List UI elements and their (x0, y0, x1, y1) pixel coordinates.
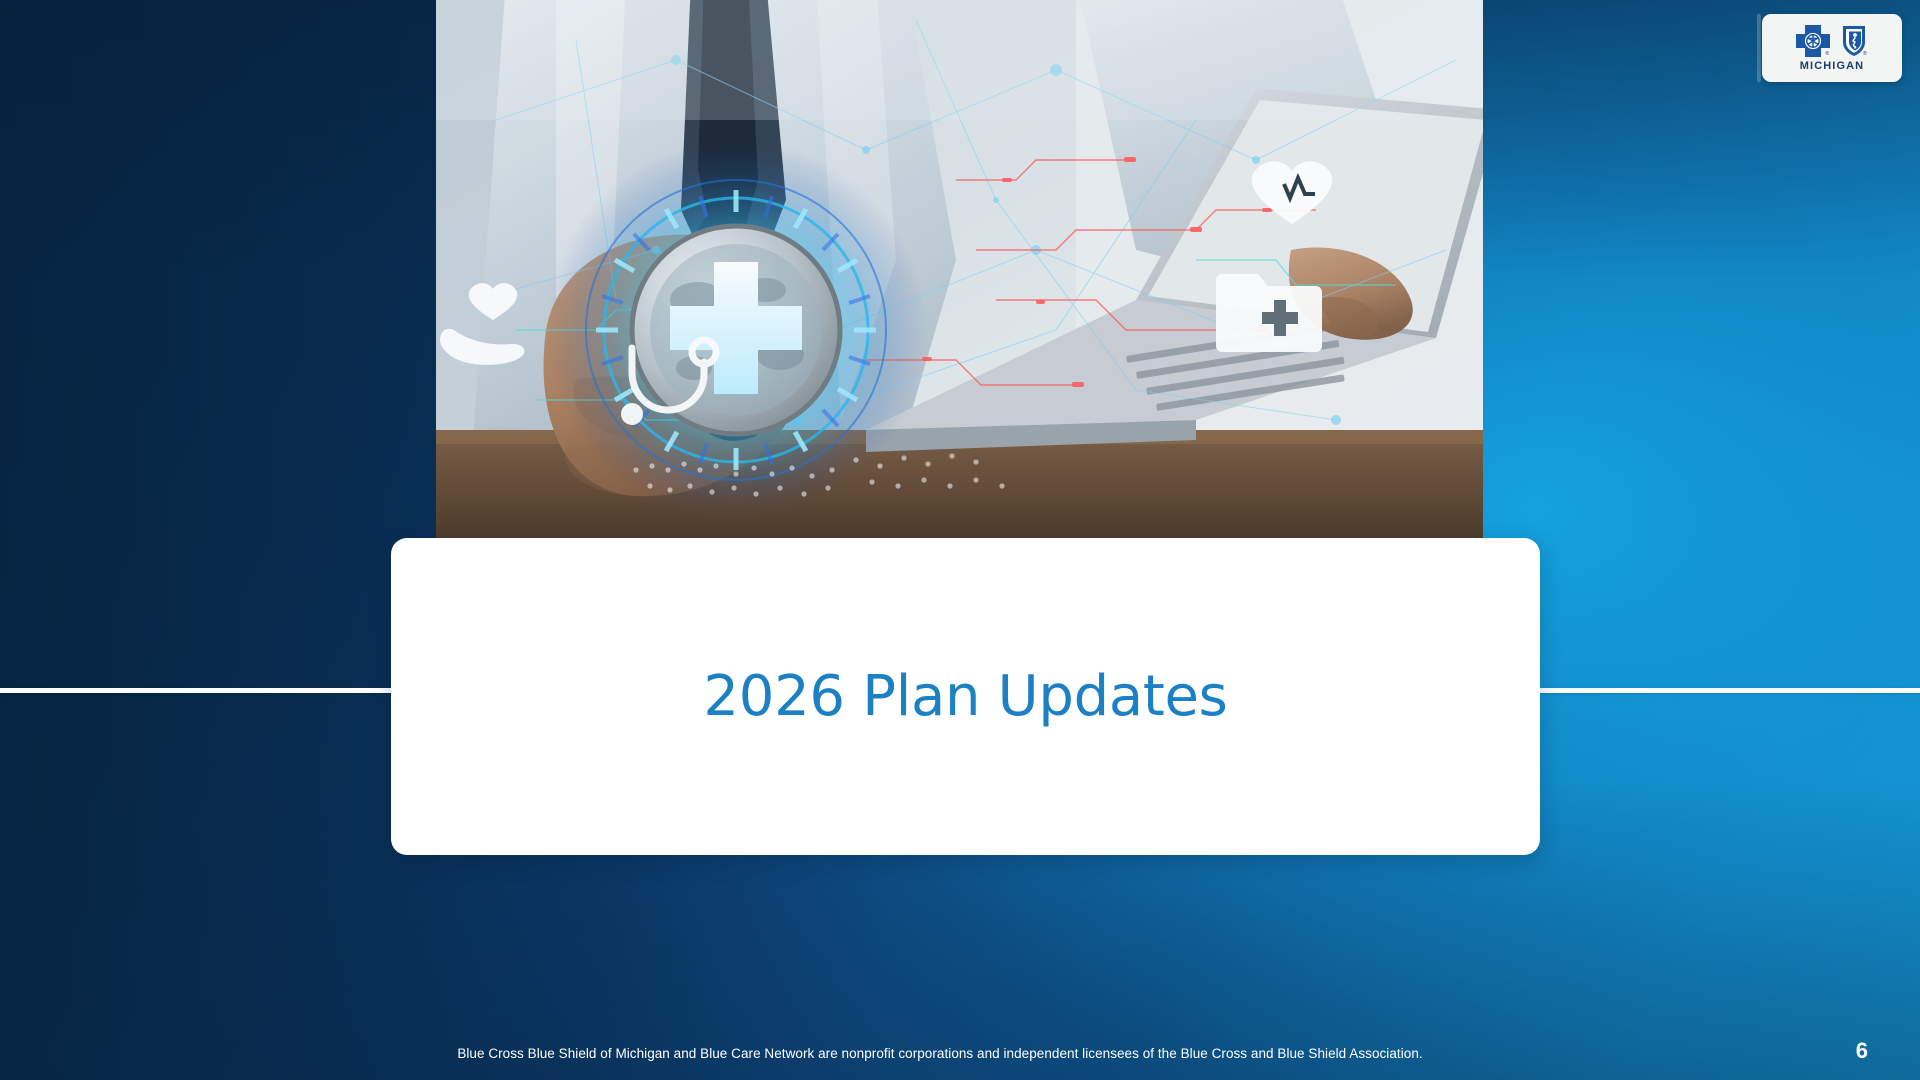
hero-image-artwork (436, 0, 1483, 538)
shield-registered-mark: ® (1863, 50, 1867, 57)
logo-state-label: MICHIGAN (1800, 61, 1864, 72)
cross-registered-mark: ® (1826, 50, 1830, 57)
slide-canvas: 2026 Plan Updates ® (0, 0, 1920, 1080)
logo-accent-bar (1757, 14, 1761, 82)
logo-marks: ® ® (1794, 24, 1870, 58)
page-title: 2026 Plan Updates (703, 669, 1227, 725)
hero-image (436, 0, 1483, 538)
title-card: 2026 Plan Updates (391, 538, 1540, 855)
footer-disclaimer: Blue Cross Blue Shield of Michigan and B… (0, 1046, 1920, 1062)
blue-shield-icon: ® (1840, 24, 1870, 58)
bcbs-michigan-logo: ® ® MICHIGAN (1762, 14, 1902, 82)
blue-cross-icon: ® (1794, 24, 1832, 58)
page-number: 6 (1856, 1040, 1868, 1062)
footer-disclaimer-text: Blue Cross Blue Shield of Michigan and B… (457, 1046, 1462, 1062)
